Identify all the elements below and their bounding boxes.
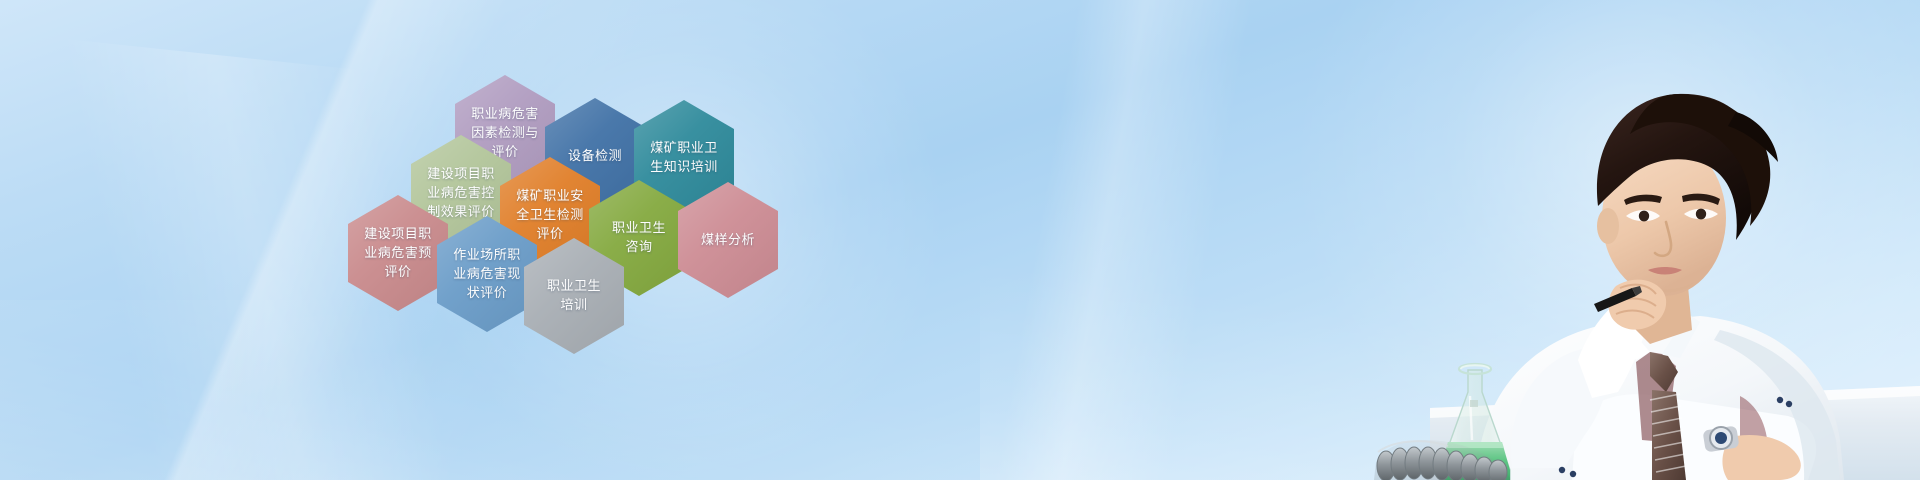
head bbox=[1597, 94, 1778, 296]
banner-root: 职业病危害因素检测与评价设备检测煤矿职业卫生知识培训建设项目职业病危害控制效果评… bbox=[0, 0, 1920, 480]
hex-construction-project-occupational-disease-hazard-control-effect-evaluation-label: 建设项目职业病危害控制效果评价 bbox=[427, 165, 495, 222]
hex-occupational-health-training-label: 职业卫生培训 bbox=[547, 277, 601, 315]
hex-workplace-occupational-disease-hazard-status-evaluation-label: 作业场所职业病危害现状评价 bbox=[453, 246, 521, 303]
businessman-at-desk-photo bbox=[1180, 0, 1920, 480]
hexagon-cluster: 职业病危害因素检测与评价设备检测煤矿职业卫生知识培训建设项目职业病危害控制效果评… bbox=[0, 0, 820, 400]
hex-construction-project-occupational-disease-hazard-pre-evaluation-label: 建设项目职业病危害预评价 bbox=[364, 225, 432, 282]
hex-occupational-health-consulting-label: 职业卫生咨询 bbox=[612, 219, 666, 257]
hex-coal-mine-occupational-safety-health-detection-evaluation-label: 煤矿职业安全卫生检测评价 bbox=[516, 187, 584, 244]
hex-equipment-detection-label: 设备检测 bbox=[568, 147, 622, 166]
hex-coal-sample-analysis-label: 煤样分析 bbox=[701, 231, 755, 250]
hex-coal-mine-occupational-health-knowledge-training-label: 煤矿职业卫生知识培训 bbox=[650, 139, 718, 177]
